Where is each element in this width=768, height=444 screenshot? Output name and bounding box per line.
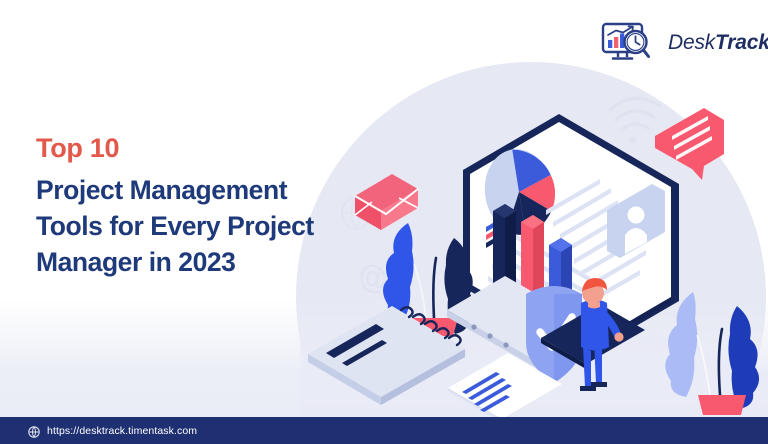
- wifi-icon: [610, 98, 660, 143]
- brand-name-bold: Track: [715, 31, 768, 54]
- monitor-chart-clock-icon: [601, 21, 663, 65]
- brand-name-light: Desk: [668, 31, 715, 54]
- footer-bar: https://desktrack.timentask.com: [0, 417, 768, 444]
- footer-url[interactable]: https://desktrack.timentask.com: [47, 425, 197, 437]
- banner-root: DeskTrack Top 10 Project Management Tool…: [0, 0, 768, 444]
- brand-logo[interactable]: DeskTrack: [601, 21, 768, 65]
- speech-bubble-icon: [655, 108, 724, 180]
- isometric-project-dashboard-illustration: [300, 70, 768, 420]
- brand-logo-text: DeskTrack: [668, 31, 768, 55]
- globe-icon: [28, 425, 40, 437]
- envelope-icon: [355, 174, 418, 230]
